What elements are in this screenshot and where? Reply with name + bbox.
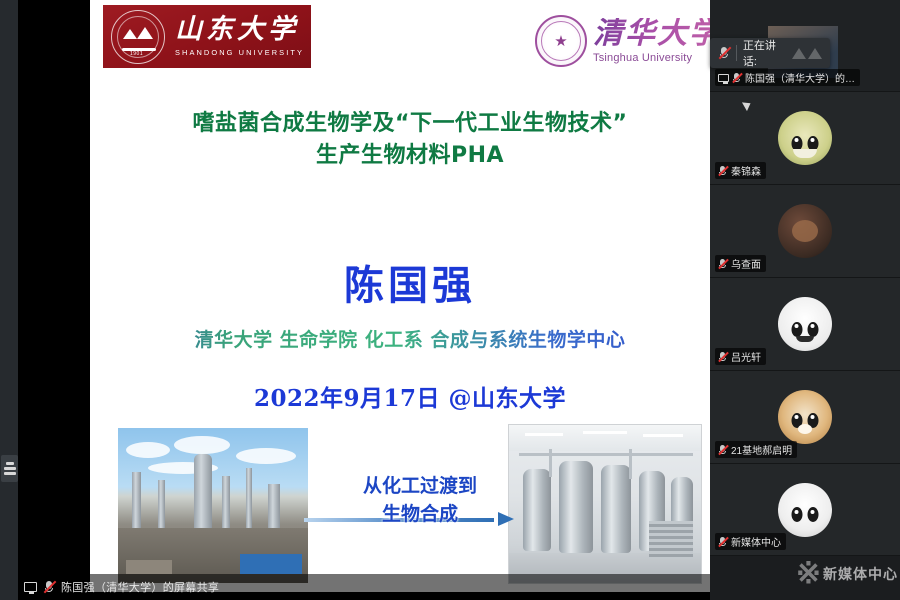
- speaker-name: 陈国强: [90, 253, 730, 311]
- photo-detail: [126, 442, 170, 458]
- avatar: [778, 111, 832, 165]
- avatar: [778, 483, 832, 537]
- tsinghua-university-wordmark: 清华大学 Tsinghua University: [593, 18, 721, 64]
- mic-muted-icon: [718, 258, 728, 270]
- avatar-detail: [798, 424, 812, 434]
- mic-muted-icon: [718, 351, 728, 363]
- bioreactor-hall-photo: [508, 424, 702, 584]
- shandong-university-seal-icon: 1901: [111, 10, 165, 64]
- photo-detail: [509, 425, 702, 451]
- participant-tile-5[interactable]: 新媒体中心: [710, 464, 900, 556]
- photo-detail: [519, 453, 693, 456]
- presentation-slide: 1901 山东大学 SHANDONG UNIVERSITY ★ 清华大学 Tsi…: [90, 0, 730, 592]
- photo-detail: [132, 472, 141, 534]
- participant-name-0: 陈国强（清华大学）的…: [745, 70, 855, 85]
- avatar: [778, 204, 832, 258]
- rail-bar: [4, 467, 16, 470]
- participant-tile-3[interactable]: 吕光轩: [710, 278, 900, 371]
- shandong-university-wordmark: 山东大学 SHANDONG UNIVERSITY: [175, 16, 304, 56]
- shandong-university-logo: 1901 山东大学 SHANDONG UNIVERSITY: [103, 5, 311, 68]
- mic-muted-icon: [732, 72, 742, 84]
- participant-label-2: 乌查面: [715, 255, 766, 272]
- active-speaker-tooltip: 正在讲话:: [710, 38, 830, 68]
- chemical-plant-photo: [118, 428, 308, 583]
- participant-label-3: 吕光轩: [715, 348, 766, 365]
- screen-share-status-bar: 陈国强（清华大学）的屏幕共享: [18, 574, 728, 600]
- sdu-name-cn: 山东大学: [175, 16, 304, 44]
- participant-label-1: 秦锦森: [715, 162, 766, 179]
- participant-name-5: 新媒体中心: [731, 534, 781, 549]
- photo-detail: [240, 554, 302, 574]
- photo-detail: [629, 449, 632, 479]
- photo-detail: [246, 468, 252, 536]
- thu-name-en: Tsinghua University: [593, 52, 721, 64]
- arrow-label-line-1: 从化工过渡到: [335, 473, 505, 501]
- participant-label-4: 21基地郝启明: [715, 441, 797, 458]
- tooltip-divider: [736, 45, 737, 61]
- slide-title-line-2: 生产生物材料PHA: [90, 140, 730, 172]
- photo-detail: [523, 469, 551, 551]
- speaker-affiliation: 清华大学 生命学院 化工系 合成与系统生物学中心: [90, 325, 730, 352]
- rail-bar: [4, 472, 16, 475]
- participant-name-1: 秦锦森: [731, 163, 761, 178]
- avatar-face: [792, 322, 819, 337]
- photo-detail: [601, 465, 631, 553]
- participant-label-5: 新媒体中心: [715, 533, 786, 550]
- photo-detail: [649, 521, 693, 559]
- photo-detail: [583, 431, 627, 434]
- screen-share-status-text: 陈国强（清华大学）的屏幕共享: [61, 579, 219, 595]
- arrow-label-line-2: 生物合成: [335, 501, 505, 529]
- avatar-detail: [796, 336, 814, 342]
- mountain-glyph: [123, 30, 153, 43]
- tsinghua-university-seal-icon: ★: [535, 15, 587, 67]
- star-glyph: ★: [554, 34, 567, 49]
- participant-name-4: 21基地郝启明: [731, 442, 792, 457]
- zoom-meeting-window: 1901 山东大学 SHANDONG UNIVERSITY ★ 清华大学 Tsi…: [0, 0, 900, 600]
- mic-muted-icon: [718, 444, 728, 456]
- photo-detail: [222, 476, 230, 536]
- mic-muted-icon: [718, 46, 730, 60]
- participant-tile-1[interactable]: 秦锦森: [710, 92, 900, 185]
- thu-name-cn: 清华大学: [593, 18, 721, 50]
- photo-detail: [174, 436, 230, 454]
- tsinghua-university-logo: ★ 清华大学 Tsinghua University: [535, 6, 725, 76]
- photo-detail: [549, 449, 552, 477]
- seal-year: 1901: [130, 51, 143, 57]
- shared-screen-stage[interactable]: 1901 山东大学 SHANDONG UNIVERSITY ★ 清华大学 Tsi…: [18, 0, 710, 600]
- sdu-name-en: SHANDONG UNIVERSITY: [175, 48, 304, 57]
- transition-arrow-label: 从化工过渡到 生物合成: [335, 473, 505, 528]
- active-speaker-label: 正在讲话:: [743, 37, 786, 69]
- rail-widget-toggle[interactable]: [1, 455, 18, 482]
- participant-name-3: 吕光轩: [731, 349, 761, 364]
- audio-wave-icon: [792, 48, 822, 59]
- mic-muted-icon: [43, 580, 55, 594]
- avatar-detail: [793, 149, 817, 158]
- photo-detail: [158, 480, 165, 534]
- photo-detail: [525, 433, 563, 436]
- avatar-face: [792, 507, 819, 522]
- monitor-icon: [24, 582, 37, 592]
- photo-detail: [643, 434, 683, 437]
- photo-detail: [236, 448, 296, 464]
- participant-tile-2[interactable]: 乌查面: [710, 185, 900, 278]
- avatar: [778, 390, 832, 444]
- participant-label-0: 陈国强（清华大学）的…: [715, 69, 860, 86]
- slide-date-venue: 2022年9月17日 @山东大学: [90, 379, 730, 413]
- avatar: [778, 297, 832, 351]
- photo-detail: [126, 560, 172, 574]
- slide-title-line-1: 嗜盐菌合成生物学及“下一代工业生物技术”: [90, 108, 730, 140]
- left-rail: [0, 0, 18, 600]
- participant-name-2: 乌查面: [731, 256, 761, 271]
- monitor-icon: [718, 74, 729, 82]
- participant-panel[interactable]: 陈国强（清华大学）的… 秦锦森 乌查面: [710, 0, 900, 600]
- mic-muted-icon: [718, 536, 728, 548]
- avatar-detail: [792, 220, 818, 242]
- photo-detail: [559, 461, 593, 553]
- mic-muted-icon: [718, 165, 728, 177]
- slide-title: 嗜盐菌合成生物学及“下一代工业生物技术” 生产生物材料PHA: [90, 108, 730, 172]
- rail-bar: [6, 462, 14, 465]
- participant-tile-4[interactable]: 21基地郝启明: [710, 371, 900, 464]
- photo-detail: [194, 454, 212, 536]
